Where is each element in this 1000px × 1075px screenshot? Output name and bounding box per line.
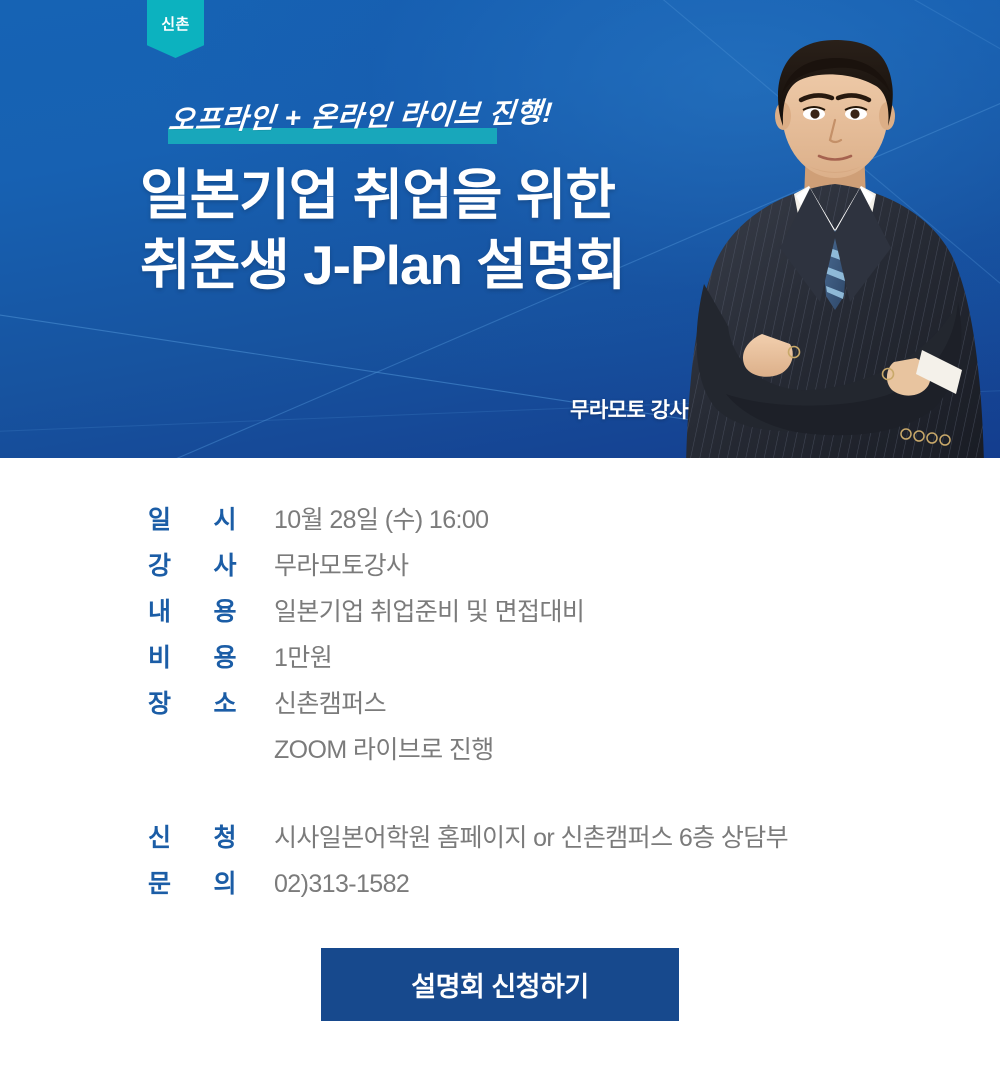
info-label-application: 신 청 [148,818,274,854]
label-char-b: 용 [213,638,236,674]
ribbon-label: 신촌 [161,13,190,34]
info-label-instructor: 강 사 [148,546,274,582]
info-label-inquiry: 문 의 [148,864,274,900]
info-label-place: 장 소 [148,684,274,720]
info-value-cost: 1만원 [274,638,332,674]
info-row-place-secondary: ZOOM 라이브로 진행 [0,730,1000,776]
info-row-inquiry: 문 의 02)313-1582 [0,864,1000,910]
label-char-b: 의 [213,864,236,900]
label-char-a: 내 [148,592,171,628]
label-char-b: 청 [213,818,236,854]
info-value-inquiry: 02)313-1582 [274,870,409,899]
label-char-b: 소 [213,684,236,720]
info-row-application: 신 청 시사일본어학원 홈페이지 or 신촌캠퍼스 6층 상담부 [0,818,1000,864]
hero-title: 일본기업 취업을 위한 취준생 J-Plan 설명회 [140,160,625,301]
instructor-photo [670,34,1000,458]
hero-title-line-2: 취준생 J-Plan 설명회 [140,230,625,302]
info-row-content: 내 용 일본기업 취업준비 및 면접대비 [0,592,1000,638]
info-value-content: 일본기업 취업준비 및 면접대비 [274,592,584,628]
apply-button[interactable]: 설명회 신청하기 [321,948,679,1021]
hero-title-line-1: 일본기업 취업을 위한 [140,160,625,232]
campus-ribbon-tag: 신촌 [147,0,204,58]
cta-container: 설명회 신청하기 [0,948,1000,1021]
info-row-cost: 비 용 1만원 [0,638,1000,684]
info-section: 일 시 10월 28일 (수) 16:00 강 사 무라모토강사 내 용 일본기… [0,458,1000,1021]
info-value-place-online: ZOOM 라이브로 진행 [274,730,494,766]
hero-banner: 신촌 오프라인 + 온라인 라이브 진행! 일본기업 취업을 위한 취준생 J-… [0,0,1000,458]
info-value-instructor: 무라모토강사 [274,546,408,582]
instructor-caption: 무라모토 강사 [570,394,688,424]
info-row-instructor: 강 사 무라모토강사 [0,546,1000,592]
label-char-a: 비 [148,638,171,674]
label-char-a: 일 [148,500,171,536]
info-value-place: 신촌캠퍼스 [274,684,386,720]
info-value-application: 시사일본어학원 홈페이지 or 신촌캠퍼스 6층 상담부 [274,818,788,854]
label-char-a: 장 [148,684,171,720]
label-char-b: 사 [213,546,236,582]
hero-eyebrow-group: 오프라인 + 온라인 라이브 진행! [147,95,553,135]
info-value-date: 10월 28일 (수) 16:00 [274,500,488,536]
info-label-content: 내 용 [148,592,274,628]
info-row-date: 일 시 10월 28일 (수) 16:00 [0,500,1000,546]
info-label-cost: 비 용 [148,638,274,674]
label-char-a: 강 [148,546,171,582]
info-label-date: 일 시 [148,500,274,536]
label-char-a: 문 [148,864,171,900]
label-char-b: 용 [213,592,236,628]
label-char-b: 시 [213,500,236,536]
label-char-a: 신 [148,818,171,854]
info-section-divider [0,776,1000,818]
info-row-place: 장 소 신촌캠퍼스 [0,684,1000,730]
